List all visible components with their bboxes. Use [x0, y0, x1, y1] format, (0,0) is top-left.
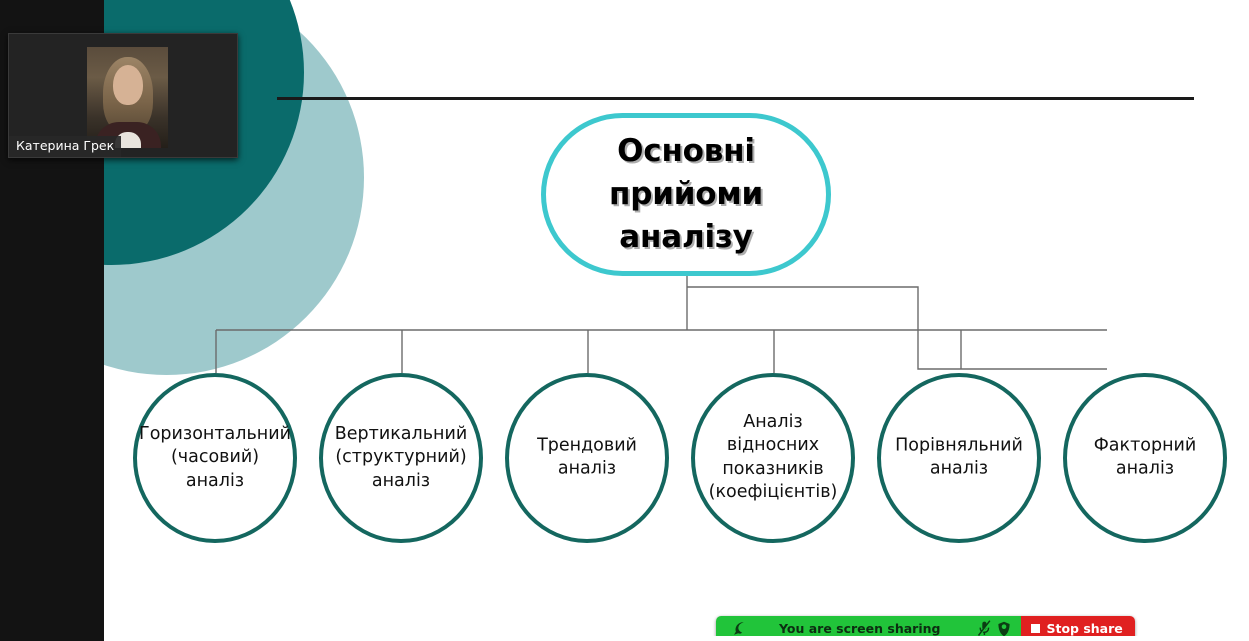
self-view-video — [87, 47, 168, 148]
diagram-root-node: Основні прийоми аналізу — [541, 113, 831, 276]
diagram-node-trend: Трендовий аналіз — [505, 373, 669, 543]
participant-name-label: Катерина Грек — [9, 136, 121, 157]
share-status-text: You are screen sharing — [749, 621, 974, 636]
diagram-node-label: Вертикальний (структурний) аналіз — [306, 423, 496, 493]
diagram-node-label: Аналіз відносних показників (коефіцієнті… — [668, 411, 878, 505]
diagram-node-horizontal: Горизонтальний (часовий) аналіз — [133, 373, 297, 543]
shared-slide: Основні прийоми аналізу Горизонтальний (… — [104, 0, 1249, 641]
self-view-thumbnail[interactable]: Катерина Грек — [8, 33, 238, 158]
diagram-node-label: Горизонтальний (часовий) аналіз — [120, 423, 310, 493]
diagram-node-label: Факторний аналіз — [1050, 435, 1240, 482]
connector-lines — [104, 0, 1249, 641]
diagram-node-comparative: Порівняльний аналіз — [877, 373, 1041, 543]
diagram-root-label: Основні прийоми аналізу — [609, 130, 763, 258]
stop-share-label: Stop share — [1046, 621, 1122, 636]
diagram-node-vertical: Вертикальний (структурний) аналіз — [319, 373, 483, 543]
slide-bottom-edge — [104, 636, 1249, 641]
stop-square-icon — [1031, 624, 1040, 633]
diagram-node-label: Порівняльний аналіз — [864, 435, 1054, 482]
zoom-app-window: Основні прийоми аналізу Горизонтальний (… — [0, 0, 1249, 641]
diagram-node-label: Трендовий аналіз — [492, 435, 682, 482]
diagram-node-factor: Факторний аналіз — [1063, 373, 1227, 543]
avatar-face — [113, 65, 143, 105]
diagram-node-ratios: Аналіз відносних показників (коефіцієнті… — [691, 373, 855, 543]
